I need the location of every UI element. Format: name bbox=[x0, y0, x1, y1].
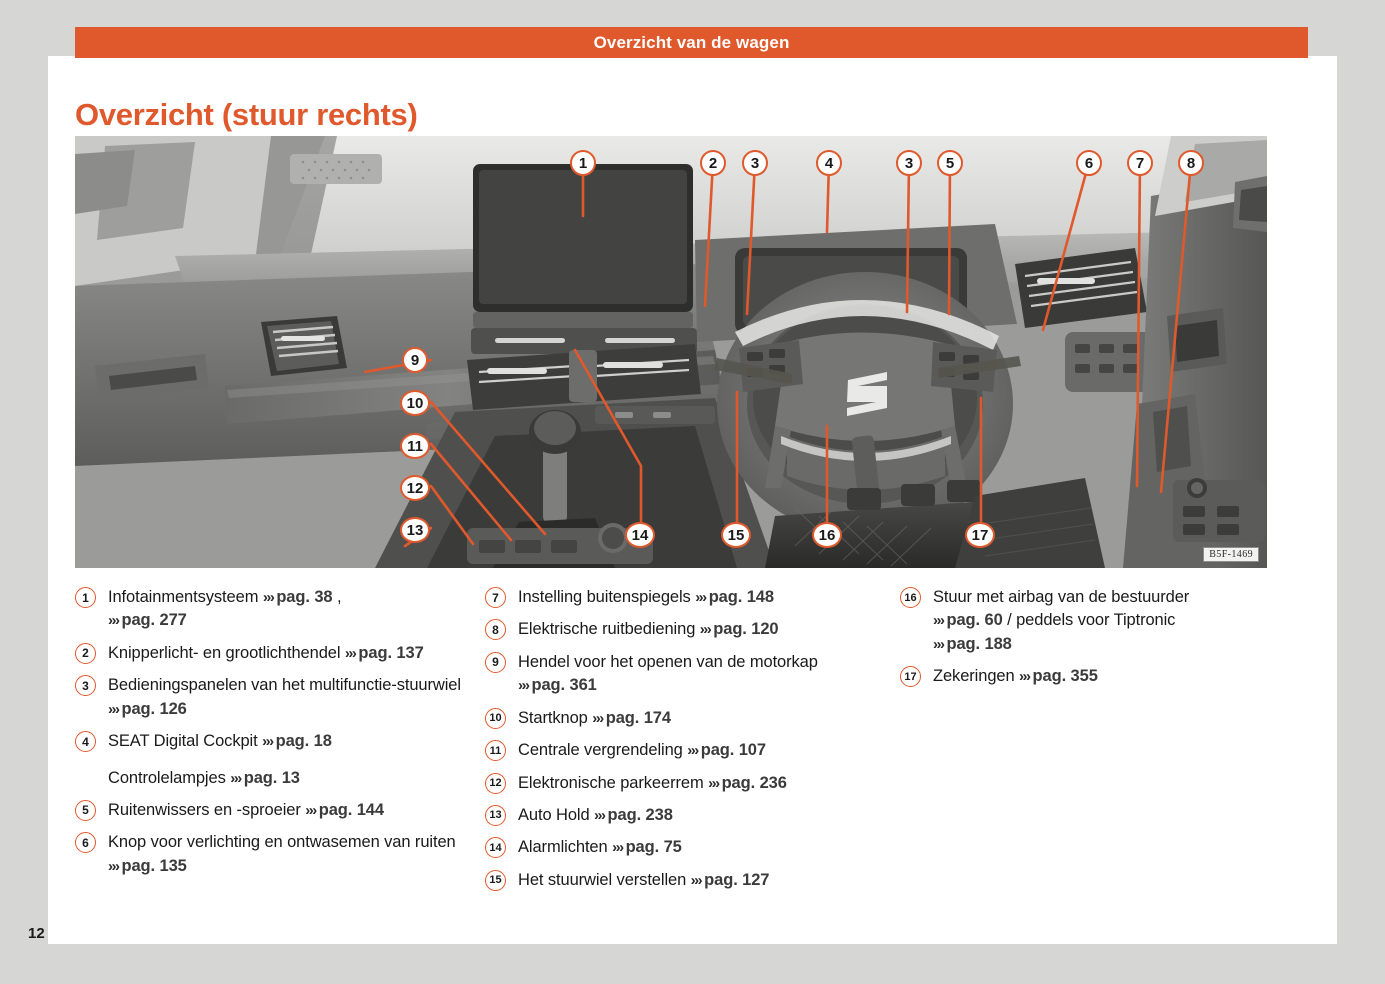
legend-number-9: 9 bbox=[485, 652, 506, 673]
legend-label: Elektronische parkeerrem bbox=[518, 774, 708, 792]
page-reference[interactable]: pag. 38 bbox=[276, 588, 337, 606]
legend-item-3: 3Bedieningspanelen van het multifunctie-… bbox=[75, 674, 485, 721]
chevron-icon: ››› bbox=[305, 802, 319, 819]
page-number: 12 bbox=[28, 925, 45, 942]
chevron-icon: ››› bbox=[708, 775, 722, 792]
page-reference[interactable]: pag. 18 bbox=[276, 732, 332, 750]
page-reference[interactable]: pag. 127 bbox=[704, 871, 769, 889]
legend-label: SEAT Digital Cockpit bbox=[108, 732, 262, 750]
legend-number-6: 6 bbox=[75, 832, 96, 853]
callout-marker-2-1: 2 bbox=[700, 150, 726, 176]
legend-item-6: 6Knop voor verlichting en ontwasemen van… bbox=[75, 831, 485, 878]
legend-text-14: Alarmlichten ›››pag. 75 bbox=[518, 836, 682, 859]
legend-number-17: 17 bbox=[900, 666, 921, 687]
chevron-icon: ››› bbox=[1019, 668, 1033, 685]
page-reference[interactable]: pag. 188 bbox=[947, 635, 1012, 653]
legend-text-11: Centrale vergrendeling ›››pag. 107 bbox=[518, 739, 766, 762]
legend-number-1: 1 bbox=[75, 587, 96, 608]
callout-marker-15-15: 15 bbox=[721, 522, 751, 548]
legend-item-2: 2Knipperlicht- en grootlichthendel ›››pa… bbox=[75, 642, 485, 665]
callout-marker-17-17: 17 bbox=[965, 522, 995, 548]
legend-item-8: 8Elektrische ruitbediening ›››pag. 120 bbox=[485, 618, 900, 641]
legend-label: Instelling buitenspiegels bbox=[518, 588, 695, 606]
legend-text-1: Infotainmentsysteem ›››pag. 38 ,›››pag. … bbox=[108, 586, 341, 633]
legend-label: Auto Hold bbox=[518, 806, 594, 824]
legend-label: , bbox=[337, 588, 341, 606]
chevron-icon: ››› bbox=[687, 742, 701, 759]
chevron-icon: ››› bbox=[594, 807, 608, 824]
legend-item-9: 9Hendel voor het openen van de motorkap … bbox=[485, 651, 900, 698]
callout-marker-8-8: 8 bbox=[1178, 150, 1204, 176]
legend-number-10: 10 bbox=[485, 708, 506, 729]
callout-marker-7-7: 7 bbox=[1127, 150, 1153, 176]
legend-item-5: 5Ruitenwissers en -sproeier ›››pag. 144 bbox=[75, 799, 485, 822]
legend-text-16: Stuur met airbag van de bestuurder ›››pa… bbox=[933, 586, 1189, 656]
callout-marker-6-6: 6 bbox=[1076, 150, 1102, 176]
legend-number-12: 12 bbox=[485, 773, 506, 794]
legend-item-7: 7Instelling buitenspiegels ›››pag. 148 bbox=[485, 586, 900, 609]
page-reference[interactable]: pag. 107 bbox=[701, 741, 766, 759]
legend-item-4: 4SEAT Digital Cockpit ›››pag. 18Controle… bbox=[75, 730, 485, 790]
legend-item-10: 10Startknop ›››pag. 174 bbox=[485, 707, 900, 730]
legend-text-10: Startknop ›››pag. 174 bbox=[518, 707, 671, 730]
legend-label: Startknop bbox=[518, 709, 592, 727]
page-reference[interactable]: pag. 144 bbox=[319, 801, 384, 819]
figure-legend: 1Infotainmentsysteem ›››pag. 38 ,›››pag.… bbox=[75, 586, 1305, 901]
legend-item-16: 16Stuur met airbag van de bestuurder ›››… bbox=[900, 586, 1305, 656]
legend-text-5: Ruitenwissers en -sproeier ›››pag. 144 bbox=[108, 799, 384, 822]
callout-marker-9-9: 9 bbox=[402, 347, 428, 373]
chevron-icon: ››› bbox=[695, 589, 709, 606]
legend-column-2: 7Instelling buitenspiegels ›››pag. 1488E… bbox=[485, 586, 900, 901]
legend-label: / peddels voor Tiptronic bbox=[1003, 611, 1176, 629]
legend-text-2: Knipperlicht- en grootlichthendel ›››pag… bbox=[108, 642, 424, 665]
legend-column-1: 1Infotainmentsysteem ›››pag. 38 ,›››pag.… bbox=[75, 586, 485, 901]
page-reference[interactable]: pag. 135 bbox=[122, 857, 187, 875]
chevron-icon: ››› bbox=[108, 612, 122, 629]
chevron-icon: ››› bbox=[230, 770, 244, 787]
legend-label: Bedieningspanelen van het multifunctie-s… bbox=[108, 676, 461, 694]
legend-label: Alarmlichten bbox=[518, 838, 612, 856]
page-reference[interactable]: pag. 355 bbox=[1033, 667, 1098, 685]
page-reference[interactable]: pag. 13 bbox=[244, 769, 300, 787]
chevron-icon: ››› bbox=[345, 645, 359, 662]
legend-text-7: Instelling buitenspiegels ›››pag. 148 bbox=[518, 586, 774, 609]
legend-label: Knop voor verlichting en ontwasemen van … bbox=[108, 833, 456, 851]
dashboard-photo-graphic bbox=[75, 136, 1267, 568]
legend-item-14: 14Alarmlichten ›››pag. 75 bbox=[485, 836, 900, 859]
page-reference[interactable]: pag. 137 bbox=[358, 644, 423, 662]
legend-number-16: 16 bbox=[900, 587, 921, 608]
legend-label: Zekeringen bbox=[933, 667, 1019, 685]
chevron-icon: ››› bbox=[612, 839, 626, 856]
chevron-icon: ››› bbox=[691, 872, 705, 889]
legend-label: Centrale vergrendeling bbox=[518, 741, 687, 759]
legend-label: Controlelampjes bbox=[108, 769, 230, 787]
legend-text-9: Hendel voor het openen van de motorkap ›… bbox=[518, 651, 900, 698]
page-reference[interactable]: pag. 236 bbox=[722, 774, 787, 792]
page-reference[interactable]: pag. 75 bbox=[626, 838, 682, 856]
callout-marker-3-4: 3 bbox=[896, 150, 922, 176]
page-reference[interactable]: pag. 277 bbox=[122, 611, 187, 629]
legend-number-8: 8 bbox=[485, 619, 506, 640]
legend-label: Infotainmentsysteem bbox=[108, 588, 263, 606]
chevron-icon: ››› bbox=[700, 621, 714, 638]
legend-item-11: 11Centrale vergrendeling ›››pag. 107 bbox=[485, 739, 900, 762]
legend-label: Ruitenwissers en -sproeier bbox=[108, 801, 305, 819]
legend-column-3: 16Stuur met airbag van de bestuurder ›››… bbox=[900, 586, 1305, 901]
legend-item-17: 17Zekeringen ›››pag. 355 bbox=[900, 665, 1305, 688]
legend-text-17: Zekeringen ›››pag. 355 bbox=[933, 665, 1098, 688]
page-root: Overzicht van de wagen Overzicht (stuur … bbox=[0, 0, 1385, 984]
callout-marker-11-11: 11 bbox=[400, 433, 430, 459]
legend-label: Het stuurwiel verstellen bbox=[518, 871, 691, 889]
callout-marker-16-16: 16 bbox=[812, 522, 842, 548]
legend-text-13: Auto Hold ›››pag. 238 bbox=[518, 804, 673, 827]
page-reference[interactable]: pag. 126 bbox=[122, 700, 187, 718]
legend-item-1: 1Infotainmentsysteem ›››pag. 38 ,›››pag.… bbox=[75, 586, 485, 633]
chevron-icon: ››› bbox=[262, 733, 276, 750]
legend-number-2: 2 bbox=[75, 643, 96, 664]
legend-number-7: 7 bbox=[485, 587, 506, 608]
chevron-icon: ››› bbox=[518, 677, 532, 694]
page-reference[interactable]: pag. 148 bbox=[709, 588, 774, 606]
legend-number-14: 14 bbox=[485, 837, 506, 858]
legend-number-5: 5 bbox=[75, 800, 96, 821]
legend-number-11: 11 bbox=[485, 740, 506, 761]
page-reference[interactable]: pag. 238 bbox=[608, 806, 673, 824]
legend-text-15: Het stuurwiel verstellen ›››pag. 127 bbox=[518, 869, 769, 892]
figure-watermark: B5F-1469 bbox=[1203, 547, 1259, 562]
legend-label: Hendel voor het openen van de motorkap bbox=[518, 653, 818, 671]
page-reference[interactable]: pag. 174 bbox=[606, 709, 671, 727]
page-title: Overzicht (stuur rechts) bbox=[75, 97, 418, 133]
legend-label: Stuur met airbag van de bestuurder bbox=[933, 588, 1189, 606]
legend-number-13: 13 bbox=[485, 805, 506, 826]
legend-item-12: 12Elektronische parkeerrem ›››pag. 236 bbox=[485, 772, 900, 795]
legend-text-4: SEAT Digital Cockpit ›››pag. 18Controlel… bbox=[108, 730, 332, 790]
callout-marker-1-0: 1 bbox=[570, 150, 596, 176]
legend-item-13: 13Auto Hold ›››pag. 238 bbox=[485, 804, 900, 827]
callout-marker-14-14: 14 bbox=[625, 522, 655, 548]
page-reference[interactable]: pag. 361 bbox=[532, 676, 597, 694]
chevron-icon: ››› bbox=[933, 636, 947, 653]
legend-subline: Controlelampjes ›››pag. 13 bbox=[108, 767, 332, 790]
chevron-icon: ››› bbox=[592, 710, 606, 727]
running-header-title: Overzicht van de wagen bbox=[594, 33, 790, 53]
legend-text-6: Knop voor verlichting en ontwasemen van … bbox=[108, 831, 485, 878]
legend-number-3: 3 bbox=[75, 675, 96, 696]
legend-number-15: 15 bbox=[485, 870, 506, 891]
legend-number-4: 4 bbox=[75, 731, 96, 752]
legend-text-8: Elektrische ruitbediening ›››pag. 120 bbox=[518, 618, 779, 641]
legend-label: Elektrische ruitbediening bbox=[518, 620, 700, 638]
callout-marker-3-2: 3 bbox=[742, 150, 768, 176]
chevron-icon: ››› bbox=[263, 589, 277, 606]
running-header-bar: Overzicht van de wagen bbox=[75, 27, 1308, 58]
chevron-icon: ››› bbox=[108, 858, 122, 875]
callout-marker-5-5: 5 bbox=[937, 150, 963, 176]
legend-text-3: Bedieningspanelen van het multifunctie-s… bbox=[108, 674, 485, 721]
callout-marker-12-12: 12 bbox=[400, 475, 430, 501]
callout-marker-13-13: 13 bbox=[400, 517, 430, 543]
legend-item-15: 15Het stuurwiel verstellen ›››pag. 127 bbox=[485, 869, 900, 892]
chevron-icon: ››› bbox=[108, 701, 122, 718]
legend-text-12: Elektronische parkeerrem ›››pag. 236 bbox=[518, 772, 787, 795]
page-reference[interactable]: pag. 120 bbox=[713, 620, 778, 638]
chevron-icon: ››› bbox=[933, 612, 947, 629]
page-reference[interactable]: pag. 60 bbox=[947, 611, 1003, 629]
dashboard-photo: B5F-1469 bbox=[75, 136, 1267, 568]
legend-label: Knipperlicht- en grootlichthendel bbox=[108, 644, 345, 662]
callout-marker-4-3: 4 bbox=[816, 150, 842, 176]
callout-marker-10-10: 10 bbox=[400, 390, 430, 416]
